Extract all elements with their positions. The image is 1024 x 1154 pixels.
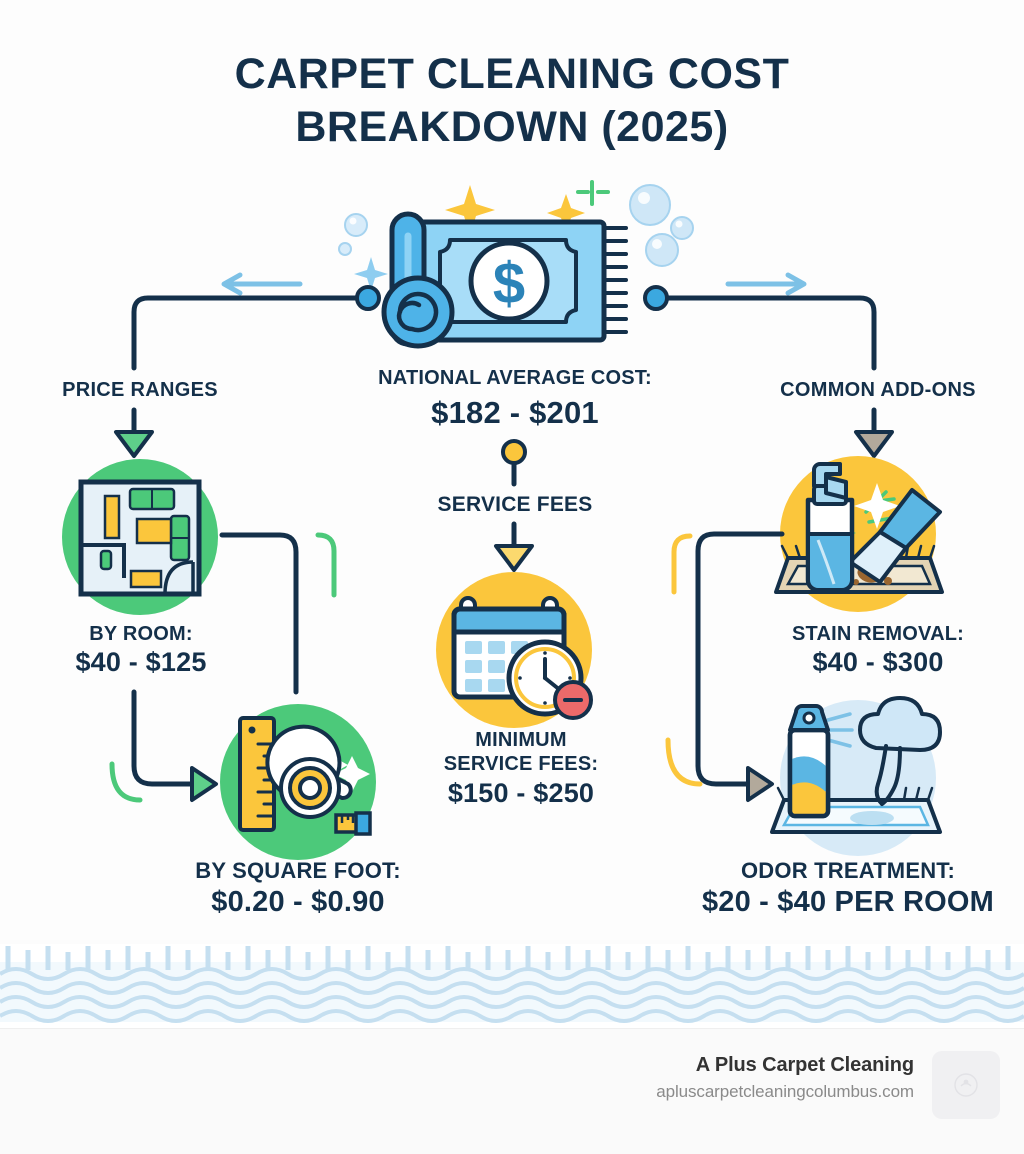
svg-text:$: $ xyxy=(493,251,525,316)
node-label-minimum-service-fees: MINIMUM SERVICE FEES: $150 - $250 xyxy=(398,728,644,810)
by-square-foot-label: BY SQUARE FOOT: xyxy=(138,858,458,885)
rolled-carpet-with-dollar-icon: $ xyxy=(339,182,693,346)
decor-arrow-left-icon xyxy=(224,275,300,293)
ruler-tape-measure-icon xyxy=(220,704,376,860)
node-label-stain-removal: STAIN REMOVAL: $40 - $300 xyxy=(730,622,1024,679)
diagram-stage: CARPET CLEANING COST BREAKDOWN (2025) xyxy=(0,0,1024,940)
minimum-service-fees-label-line-1: MINIMUM xyxy=(398,728,644,752)
page-title-line-1: CARPET CLEANING COST xyxy=(0,48,1024,101)
floorplan-icon xyxy=(62,459,218,615)
footer-bar: A Plus Carpet Cleaning apluscarpetcleani… xyxy=(0,1028,1024,1154)
branch-label-common-add-ons: COMMON ADD-ONS xyxy=(752,378,1004,402)
brand-name: A Plus Carpet Cleaning xyxy=(656,1051,914,1079)
node-label-by-room: BY ROOM: $40 - $125 xyxy=(20,622,262,679)
decorative-wave-band xyxy=(0,944,1024,1028)
minimum-service-fees-value: $150 - $250 xyxy=(398,777,644,810)
stain-removal-label: STAIN REMOVAL: xyxy=(730,622,1024,646)
odor-treatment-value: $20 - $40 PER ROOM xyxy=(672,885,1024,920)
infographic-canvas: CARPET CLEANING COST BREAKDOWN (2025) xyxy=(0,0,1024,1154)
service-fees-kicker: SERVICE FEES xyxy=(390,492,640,518)
stain-removal-value: $40 - $300 xyxy=(730,646,1024,679)
footer-text-block: A Plus Carpet Cleaning apluscarpetcleani… xyxy=(656,1051,914,1105)
node-label-odor-treatment: ODOR TREATMENT: $20 - $40 PER ROOM xyxy=(672,858,1024,920)
page-title: CARPET CLEANING COST BREAKDOWN (2025) xyxy=(0,48,1024,155)
page-title-line-2: BREAKDOWN (2025) xyxy=(0,101,1024,154)
brand-logo-placeholder xyxy=(932,1051,1000,1119)
by-room-label: BY ROOM: xyxy=(20,622,262,646)
odor-treatment-label: ODOR TREATMENT: xyxy=(672,858,1024,885)
decor-arrow-right-icon xyxy=(728,275,804,293)
by-room-value: $40 - $125 xyxy=(20,646,262,679)
calendar-clock-icon xyxy=(436,572,592,728)
by-square-foot-value: $0.20 - $0.90 xyxy=(138,885,458,920)
minimum-service-fees-label-line-2: SERVICE FEES: xyxy=(398,752,644,776)
national-average-kicker: NATIONAL AVERAGE COST: xyxy=(332,366,698,390)
national-average-value: $182 - $201 xyxy=(332,394,698,432)
node-label-service-fees: SERVICE FEES xyxy=(390,492,640,518)
brand-glyph-icon xyxy=(951,1070,981,1100)
price-ranges-kicker: PRICE RANGES xyxy=(18,378,262,402)
branch-label-national-average: NATIONAL AVERAGE COST: $182 - $201 xyxy=(332,366,698,432)
common-add-ons-kicker: COMMON ADD-ONS xyxy=(752,378,1004,402)
footer-content: A Plus Carpet Cleaning apluscarpetcleani… xyxy=(656,1051,1000,1119)
deodorizer-can-icon xyxy=(772,698,940,856)
brand-url[interactable]: apluscarpetcleaningcolumbus.com xyxy=(656,1079,914,1105)
spray-bottle-rug-icon xyxy=(776,456,942,612)
node-label-by-square-foot: BY SQUARE FOOT: $0.20 - $0.90 xyxy=(138,858,458,920)
branch-label-price-ranges: PRICE RANGES xyxy=(18,378,262,402)
